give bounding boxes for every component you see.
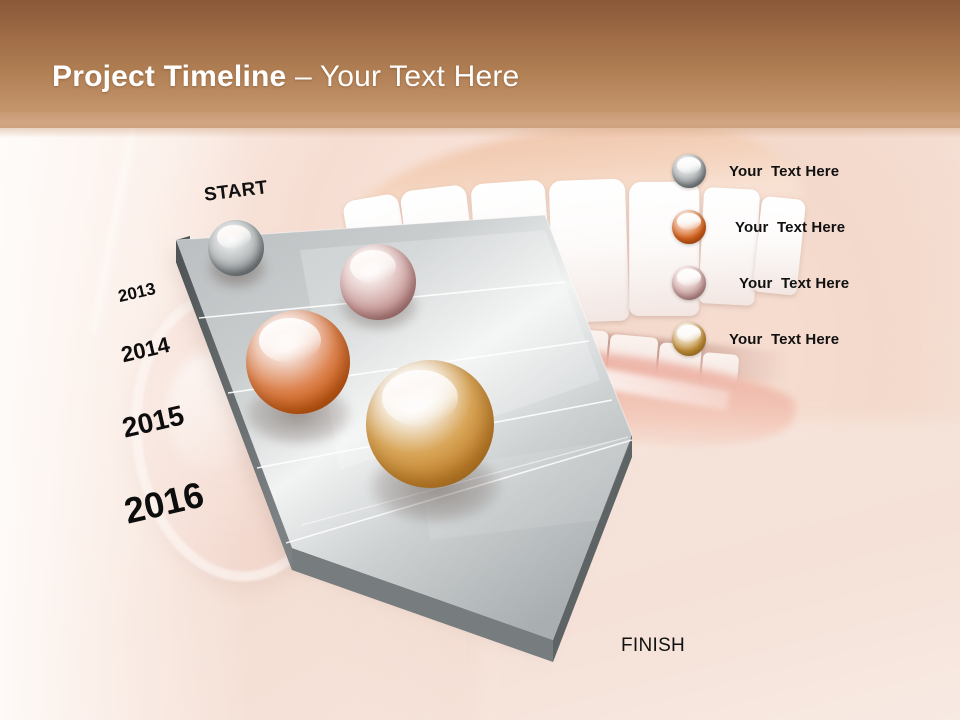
legend-bullet-gold [672,322,706,356]
skin-region-lower [480,420,960,720]
legend-label: Your Text Here [735,219,845,236]
legend-bullet-highlight [677,213,701,230]
milestone-gray[interactable] [208,220,264,276]
page-title-bold: Project Timeline [52,60,286,93]
legend-label: Your Text Here [739,275,849,292]
legend-bullet-highlight [677,157,701,174]
legend-bullet-highlight [677,325,701,342]
legend-label: Your Text Here [729,163,839,180]
page-title-regular: – Your Text Here [286,60,519,93]
title-banner-fade [0,112,960,138]
legend-item[interactable]: Your Text Here [672,206,845,248]
legend-item[interactable]: Your Text Here [672,150,839,192]
finish-label: FINISH [621,635,685,657]
legend-bullet-gray [672,154,706,188]
milestone-orange[interactable] [246,310,350,414]
legend-bullet-rose [672,266,706,300]
legend-item[interactable]: Your Text Here [672,318,839,360]
legend-item[interactable]: Your Text Here [672,262,849,304]
milestone-rose[interactable] [340,244,416,320]
page-title: Project Timeline – Your Text Here [52,60,519,94]
legend-bullet-highlight [677,269,701,286]
slide-canvas: START FINISH 2013 2014 2015 2016 Project… [0,0,960,720]
legend-label: Your Text Here [729,331,839,348]
milestone-gold[interactable] [366,360,494,488]
legend-bullet-orange [672,210,706,244]
